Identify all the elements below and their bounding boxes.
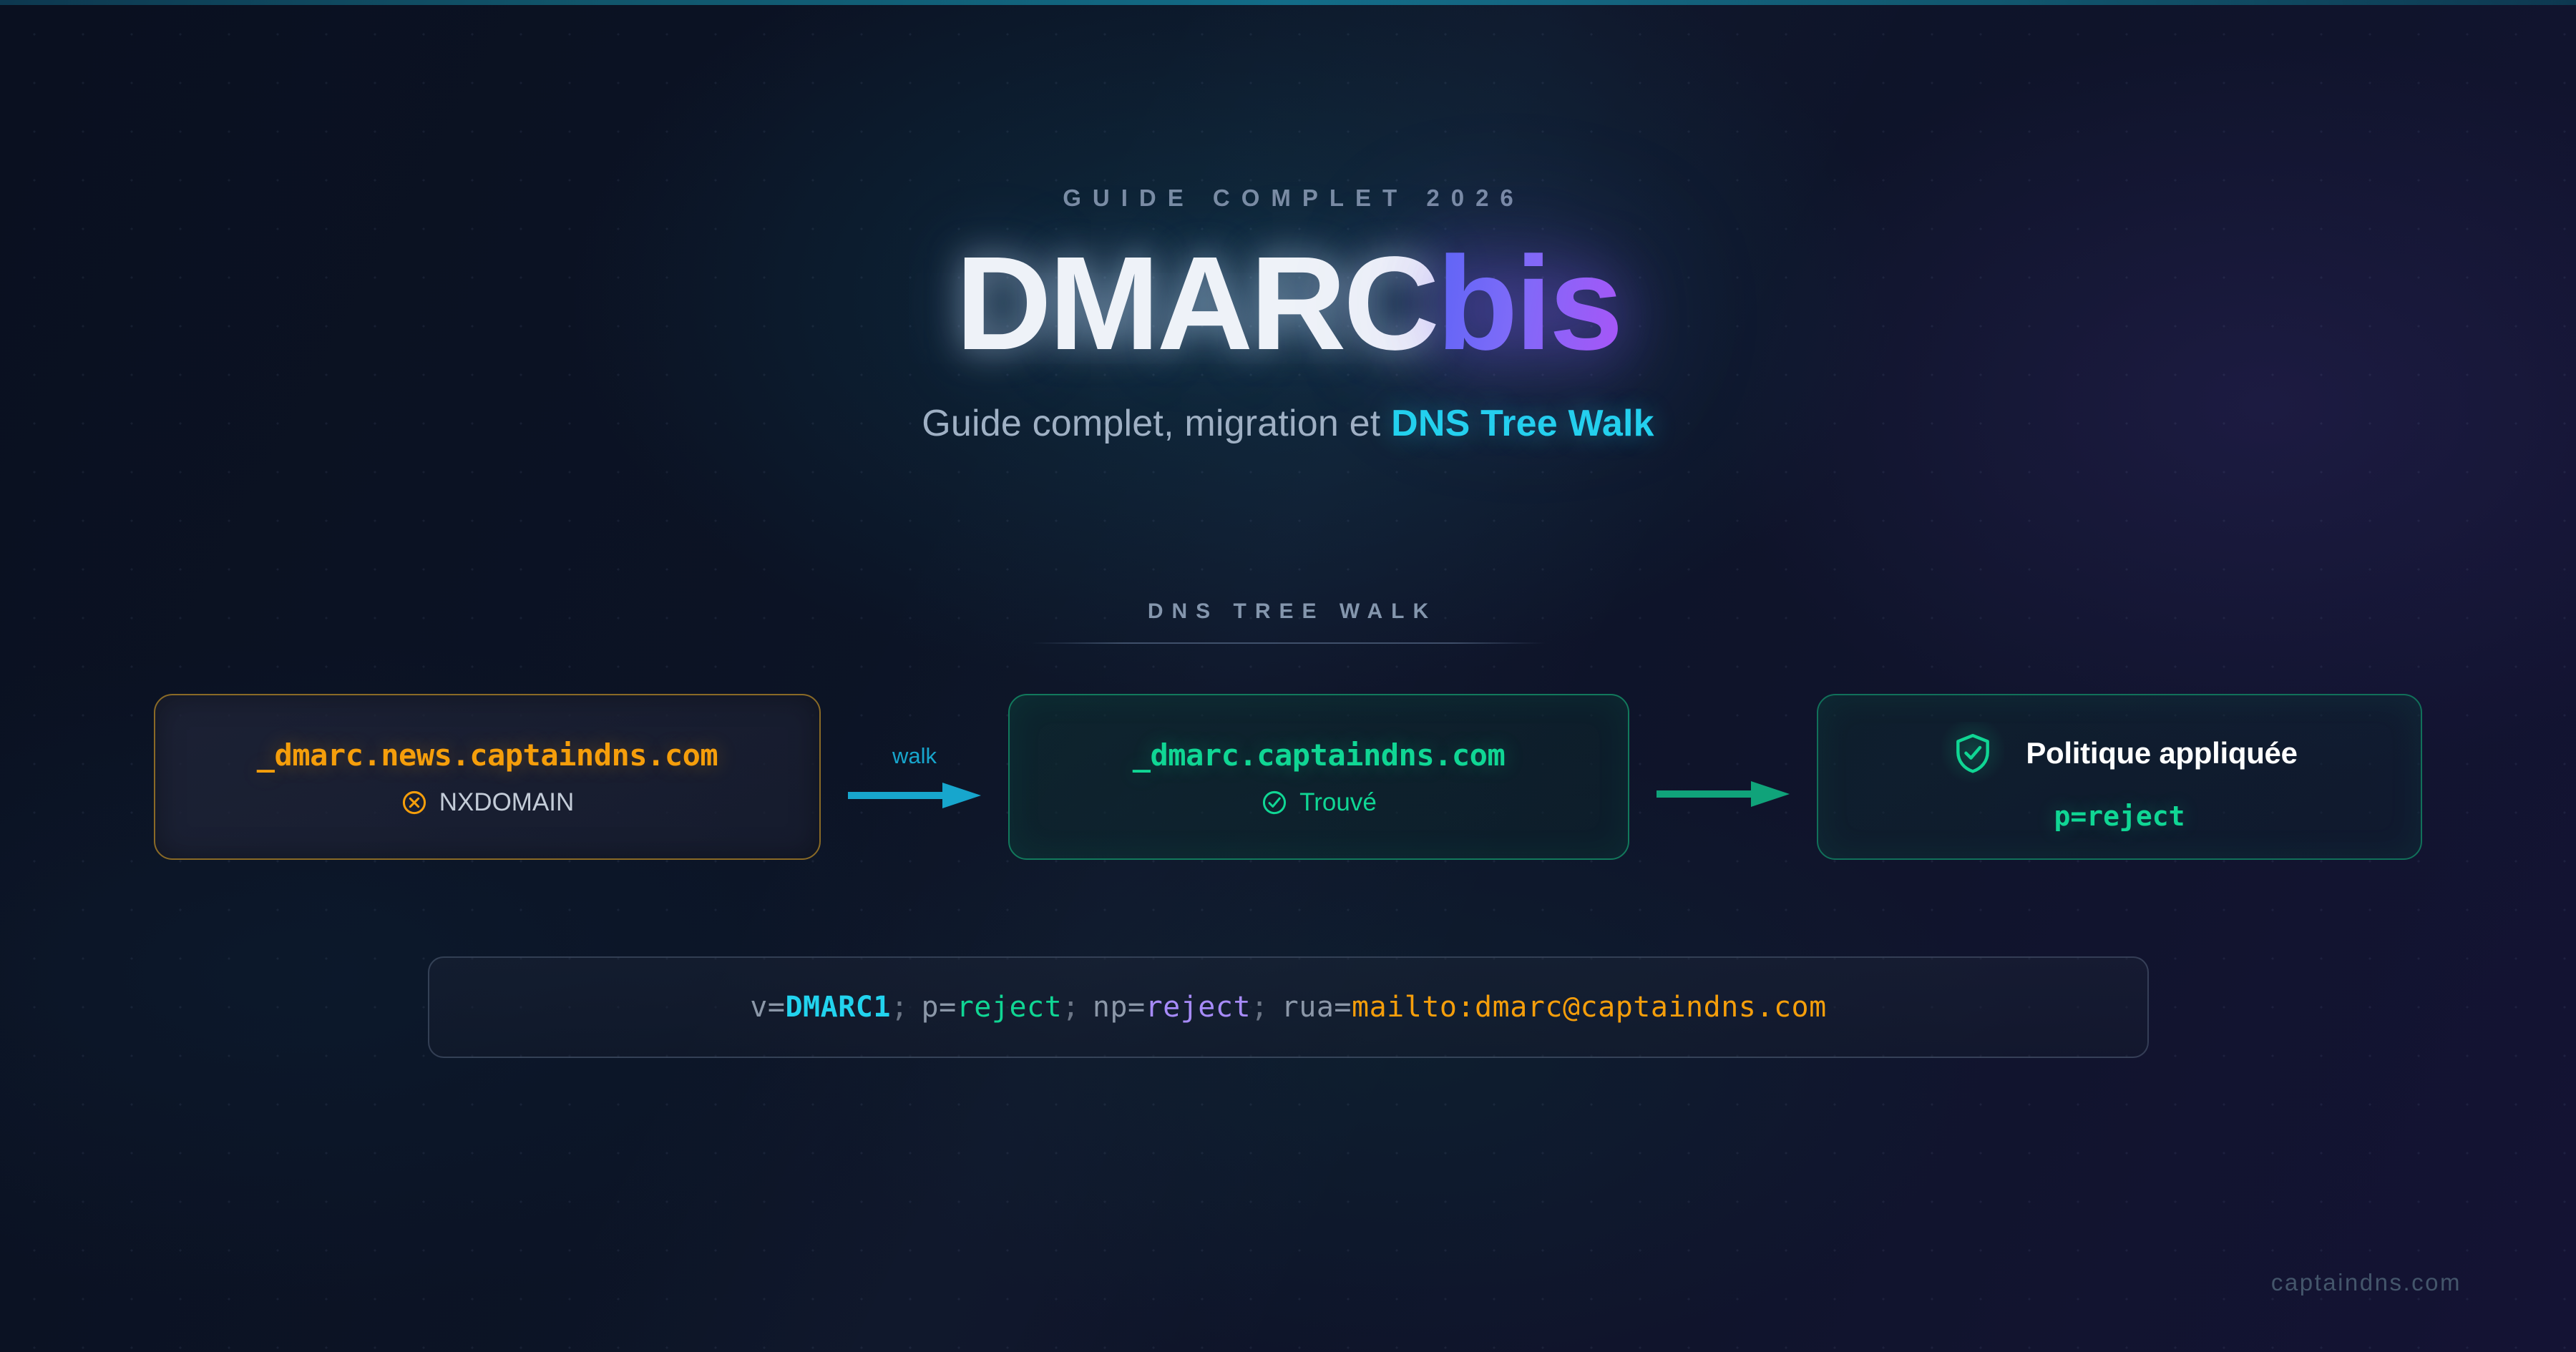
section-header: DNS TREE WALK <box>0 599 2576 644</box>
eyebrow-label: GUIDE COMPLET 2026 <box>0 185 2576 212</box>
record-value-np: reject <box>1146 991 1252 1024</box>
record-value-p: reject <box>957 991 1063 1024</box>
connector-apply <box>1657 745 1790 809</box>
flow-card-policy: Politique appliquée p=reject <box>1817 694 2422 860</box>
record-key-np: np= <box>1093 991 1146 1024</box>
arrow-right-cyan-icon <box>848 780 981 810</box>
record-sep-2: ; <box>1062 991 1080 1024</box>
record-value-rua: mailto:dmarc@captaindns.com <box>1352 991 1827 1024</box>
card-status-text-nxdomain: NXDOMAIN <box>439 788 575 817</box>
record-key-rua: rua= <box>1282 991 1352 1024</box>
page-title-dmarc: DMARC <box>956 230 1437 378</box>
card-status-nxdomain: NXDOMAIN <box>401 788 575 817</box>
hero-section: GUIDE COMPLET 2026 DMARCbis Guide comple… <box>0 0 2576 445</box>
circle-x-icon <box>401 789 428 816</box>
dns-tree-walk-flow: _dmarc.news.captaindns.com NXDOMAIN walk <box>154 694 2422 860</box>
section-divider <box>1030 642 1546 644</box>
tagline-prefix: Guide complet, migration et <box>922 403 1391 444</box>
connector-walk: walk <box>848 743 981 810</box>
connector-walk-label: walk <box>892 743 937 769</box>
record-value-v: DMARC1 <box>785 991 891 1024</box>
section-label: DNS TREE WALK <box>0 599 2576 624</box>
tagline: Guide complet, migration et DNS Tree Wal… <box>0 402 2576 445</box>
policy-value: p=reject <box>2054 800 2185 832</box>
flow-card-found: _dmarc.captaindns.com Trouvé <box>1008 694 1629 860</box>
poster-stage: GUIDE COMPLET 2026 DMARCbis Guide comple… <box>0 0 2576 1352</box>
policy-title: Politique appliquée <box>2026 736 2297 770</box>
record-sep-1: ; <box>891 991 909 1024</box>
dmarc-record-text: v=DMARC1;p=reject;np=reject;rua=mailto:d… <box>750 991 1826 1024</box>
footer-site-label: captaindns.com <box>2271 1269 2462 1296</box>
page-title: DMARCbis <box>0 237 2576 371</box>
card-status-text-found: Trouvé <box>1299 788 1377 817</box>
flow-card-nxdomain: _dmarc.news.captaindns.com NXDOMAIN <box>154 694 821 860</box>
dmarc-record-box: v=DMARC1;p=reject;np=reject;rua=mailto:d… <box>428 956 2149 1058</box>
card-domain-found: _dmarc.captaindns.com <box>1133 738 1506 773</box>
circle-check-icon <box>1261 789 1288 816</box>
arrow-right-green-icon <box>1657 779 1790 809</box>
tagline-accent: DNS Tree Walk <box>1391 403 1654 444</box>
card-domain-nxdomain: _dmarc.news.captaindns.com <box>257 738 718 773</box>
record-key-v: v= <box>750 991 785 1024</box>
shield-check-icon <box>1941 722 2004 785</box>
card-status-found: Trouvé <box>1261 788 1377 817</box>
policy-headline-row: Politique appliquée <box>1941 722 2297 785</box>
page-title-bis: bis <box>1437 230 1621 378</box>
record-key-p: p= <box>922 991 957 1024</box>
record-sep-3: ; <box>1251 991 1269 1024</box>
